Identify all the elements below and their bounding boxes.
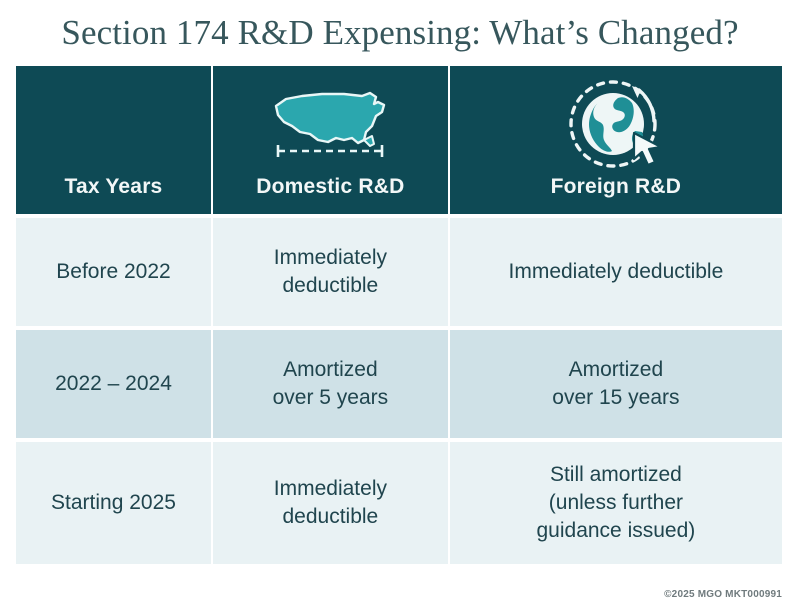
header-label-foreign: Foreign R&D (551, 174, 682, 200)
copyright-footer: ©2025 MGO MKT000991 (664, 589, 782, 600)
header-cell-foreign: Foreign R&D (450, 66, 782, 214)
cell-text-block: Immediately deductible (509, 258, 724, 286)
cell-text-line: Still amortized (537, 461, 696, 489)
table-header-row: Tax Years (16, 66, 782, 214)
cell-text-line: Immediately (274, 244, 387, 272)
cell-foreign: Still amortized (unless further guidance… (450, 442, 782, 564)
cell-text-line: guidance issued) (537, 517, 696, 545)
cell-text-line: Amortized (273, 356, 389, 384)
cell-domestic: Amortized over 5 years (213, 330, 448, 438)
slide-canvas: Section 174 R&D Expensing: What’s Change… (0, 0, 800, 608)
globe-icon (565, 88, 667, 160)
cell-tax-years: Starting 2025 (16, 442, 211, 564)
cell-text-line: Immediately deductible (509, 258, 724, 286)
cell-text-block: Immediately deductible (274, 475, 387, 531)
cell-domestic: Immediately deductible (213, 442, 448, 564)
cell-text-block: Still amortized (unless further guidance… (537, 461, 696, 545)
cell-text-block: Amortized over 5 years (273, 356, 389, 412)
header-cell-tax-years: Tax Years (16, 66, 211, 214)
page-title: Section 174 R&D Expensing: What’s Change… (0, 12, 800, 54)
table-row: Starting 2025 Immediately deductible Sti… (16, 442, 782, 564)
cell-text-line: deductible (274, 503, 387, 531)
cell-tax-years: 2022 – 2024 (16, 330, 211, 438)
cell-domestic: Immediately deductible (213, 218, 448, 326)
cell-text-line: (unless further (537, 489, 696, 517)
cell-foreign: Immediately deductible (450, 218, 782, 326)
header-label-tax-years: Tax Years (65, 174, 163, 200)
cell-tax-years: Before 2022 (16, 218, 211, 326)
cell-text: Starting 2025 (51, 489, 176, 517)
cell-text: Before 2022 (56, 258, 170, 286)
cell-text-line: over 5 years (273, 384, 389, 412)
header-cell-domestic: Domestic R&D (213, 66, 448, 214)
cell-text-block: Immediately deductible (274, 244, 387, 300)
cell-text-line: Immediately (274, 475, 387, 503)
cell-text-line: deductible (274, 272, 387, 300)
us-map-icon (266, 88, 394, 160)
comparison-table: Tax Years (16, 66, 782, 568)
cell-foreign: Amortized over 15 years (450, 330, 782, 438)
table-row: Before 2022 Immediately deductible Immed… (16, 218, 782, 326)
header-label-domestic: Domestic R&D (256, 174, 404, 200)
cell-text: 2022 – 2024 (55, 370, 172, 398)
table-row: 2022 – 2024 Amortized over 5 years Amort… (16, 330, 782, 438)
cell-text-block: Amortized over 15 years (552, 356, 679, 412)
cell-text-line: Amortized (552, 356, 679, 384)
cell-text-line: over 15 years (552, 384, 679, 412)
